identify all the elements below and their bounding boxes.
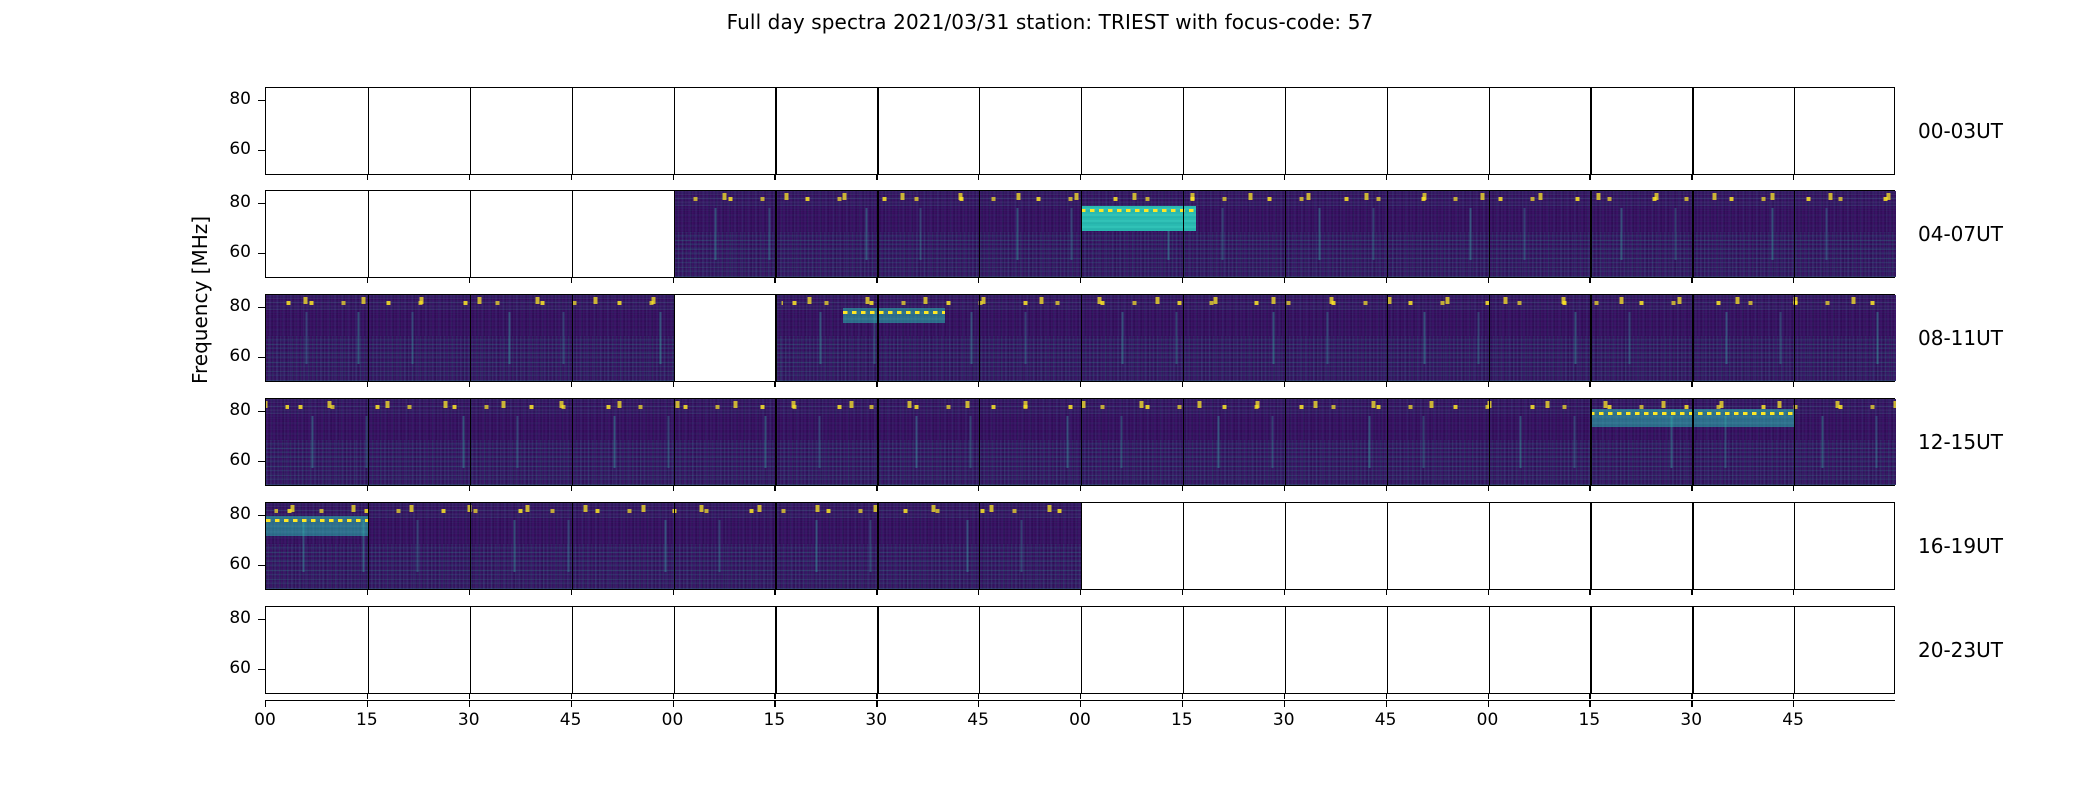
panel-divider xyxy=(1387,399,1388,485)
panel-edge-tick xyxy=(571,486,572,491)
panel-divider xyxy=(1081,295,1082,381)
panel-divider xyxy=(572,399,573,485)
panel-divider xyxy=(470,191,471,277)
x-tick-mark xyxy=(265,700,266,707)
y-tick-label: 60 xyxy=(199,346,251,366)
y-tick-mark xyxy=(258,669,265,670)
x-tick-label: 30 xyxy=(1264,710,1304,730)
panel-divider xyxy=(470,399,471,485)
panel-edge-tick xyxy=(774,590,775,595)
interference-emitter-dashes xyxy=(843,311,945,314)
panel-edge-tick xyxy=(571,590,572,595)
x-tick-mark xyxy=(1793,700,1794,707)
y-tick-mark xyxy=(258,307,265,308)
x-tick-label: 45 xyxy=(1366,710,1406,730)
panel-divider xyxy=(877,191,878,277)
panel-edge-tick xyxy=(673,382,674,387)
y-tick-label: 80 xyxy=(199,89,251,109)
panel-divider xyxy=(1489,607,1490,693)
panel-divider xyxy=(368,503,369,589)
panel-divider xyxy=(674,88,675,174)
panel-edge-tick xyxy=(1284,278,1285,283)
row-time-label: 04-07UT xyxy=(1918,222,2003,246)
panel-divider xyxy=(775,295,776,381)
x-tick-mark xyxy=(1182,700,1183,707)
panel-divider xyxy=(1183,191,1184,277)
panel-divider xyxy=(572,191,573,277)
y-tick-label: 60 xyxy=(199,242,251,262)
x-tick-label: 15 xyxy=(754,710,794,730)
panel-divider xyxy=(1590,607,1591,693)
panel-divider xyxy=(1692,191,1693,277)
panel-edge-tick xyxy=(469,486,470,491)
panel-divider xyxy=(368,607,369,693)
panel-divider xyxy=(1794,88,1795,174)
panel-divider xyxy=(368,191,369,277)
panel-edge-tick xyxy=(1080,486,1081,491)
y-tick-label: 60 xyxy=(199,658,251,678)
panel-divider xyxy=(1590,88,1591,174)
panel-edge-tick xyxy=(673,486,674,491)
panel-edge-tick xyxy=(1691,175,1692,180)
panel-edge-tick xyxy=(774,486,775,491)
spectrogram-figure: Full day spectra 2021/03/31 station: TRI… xyxy=(0,0,2100,800)
panel-edge-tick xyxy=(1793,694,1794,699)
panel-divider xyxy=(1489,399,1490,485)
panel-divider xyxy=(1387,88,1388,174)
x-tick-mark xyxy=(1488,700,1489,707)
panel-edge-tick xyxy=(1284,694,1285,699)
panel-edge-tick xyxy=(1691,694,1692,699)
x-tick-mark xyxy=(774,700,775,707)
x-tick-mark xyxy=(469,700,470,707)
panel-edge-tick xyxy=(469,382,470,387)
panel-edge-tick xyxy=(1691,486,1692,491)
x-tick-label: 30 xyxy=(856,710,896,730)
panel-edge-tick xyxy=(774,382,775,387)
panel-divider xyxy=(775,503,776,589)
x-tick-mark xyxy=(876,700,877,707)
panel-divider xyxy=(1489,191,1490,277)
panel-edge-tick xyxy=(1488,382,1489,387)
panel-divider xyxy=(1183,295,1184,381)
panel-divider xyxy=(979,88,980,174)
y-tick-label: 60 xyxy=(199,139,251,159)
panel-edge-tick xyxy=(876,590,877,595)
panel-edge-tick xyxy=(1488,590,1489,595)
y-tick-mark xyxy=(258,357,265,358)
y-tick-mark xyxy=(258,619,265,620)
panel-edge-tick xyxy=(1488,486,1489,491)
panel-edge-tick xyxy=(876,486,877,491)
panel-divider xyxy=(1285,503,1286,589)
y-tick-mark xyxy=(258,411,265,412)
y-tick-label: 60 xyxy=(199,450,251,470)
spectrogram-row[interactable] xyxy=(265,294,1895,382)
panel-divider xyxy=(979,399,980,485)
panel-edge-tick xyxy=(571,278,572,283)
panel-edge-tick xyxy=(367,278,368,283)
panel-divider xyxy=(1183,399,1184,485)
page-title: Full day spectra 2021/03/31 station: TRI… xyxy=(0,10,2100,34)
x-tick-label: 45 xyxy=(958,710,998,730)
panel-edge-tick xyxy=(673,694,674,699)
panel-edge-tick xyxy=(367,382,368,387)
x-tick-label: 15 xyxy=(1569,710,1609,730)
panel-divider xyxy=(1183,88,1184,174)
panel-divider xyxy=(775,88,776,174)
panel-edge-tick xyxy=(978,486,979,491)
panel-divider xyxy=(1794,295,1795,381)
panel-edge-tick xyxy=(1589,382,1590,387)
x-tick-label: 30 xyxy=(449,710,489,730)
y-tick-label: 80 xyxy=(199,400,251,420)
texture-layer xyxy=(775,297,1896,304)
panel-divider xyxy=(1081,88,1082,174)
panel-edge-tick xyxy=(1386,382,1387,387)
row-time-label: 12-15UT xyxy=(1918,430,2003,454)
panel-edge-tick xyxy=(1793,175,1794,180)
panel-divider xyxy=(572,607,573,693)
panel-edge-tick xyxy=(1182,278,1183,283)
panel-edge-tick xyxy=(978,590,979,595)
panel-edge-tick xyxy=(1182,486,1183,491)
panel-divider xyxy=(1183,503,1184,589)
panel-edge-tick xyxy=(469,694,470,699)
panel-edge-tick xyxy=(1488,278,1489,283)
panel-divider xyxy=(775,191,776,277)
panel-divider xyxy=(877,88,878,174)
panel-divider xyxy=(979,503,980,589)
x-tick-label: 45 xyxy=(551,710,591,730)
panel-divider xyxy=(979,295,980,381)
panel-edge-tick xyxy=(1080,694,1081,699)
panel-divider xyxy=(572,503,573,589)
spectrogram-row[interactable] xyxy=(265,606,1895,694)
row-time-label: 16-19UT xyxy=(1918,534,2003,558)
x-tick-label: 15 xyxy=(1162,710,1202,730)
panel-edge-tick xyxy=(1589,278,1590,283)
y-tick-label: 60 xyxy=(199,554,251,574)
panel-divider xyxy=(674,295,675,381)
panel-edge-tick xyxy=(673,175,674,180)
panel-edge-tick xyxy=(673,590,674,595)
x-tick-label: 45 xyxy=(1773,710,1813,730)
row-time-label: 00-03UT xyxy=(1918,119,2003,143)
y-tick-mark xyxy=(258,100,265,101)
panel-edge-tick xyxy=(1080,590,1081,595)
panel-divider xyxy=(470,295,471,381)
panel-divider xyxy=(877,607,878,693)
x-tick-label: 00 xyxy=(1060,710,1100,730)
panel-divider xyxy=(674,607,675,693)
panel-edge-tick xyxy=(1386,694,1387,699)
panel-edge-tick xyxy=(367,590,368,595)
panel-edge-tick xyxy=(774,278,775,283)
panel-edge-tick xyxy=(1691,278,1692,283)
panel-divider xyxy=(979,191,980,277)
panel-edge-tick xyxy=(876,382,877,387)
panel-edge-tick xyxy=(978,694,979,699)
x-tick-label: 15 xyxy=(347,710,387,730)
panel-divider xyxy=(1387,503,1388,589)
panel-edge-tick xyxy=(673,278,674,283)
y-tick-mark xyxy=(258,565,265,566)
panel-divider xyxy=(775,399,776,485)
panel-divider xyxy=(1183,607,1184,693)
panel-divider xyxy=(470,503,471,589)
x-tick-mark xyxy=(1589,700,1590,707)
panel-divider xyxy=(1794,399,1795,485)
panel-edge-tick xyxy=(1589,694,1590,699)
panel-edge-tick xyxy=(1589,590,1590,595)
x-tick-mark xyxy=(673,700,674,707)
panel-edge-tick xyxy=(1182,175,1183,180)
y-tick-label: 80 xyxy=(199,192,251,212)
panel-edge-tick xyxy=(774,175,775,180)
x-tick-label: 30 xyxy=(1671,710,1711,730)
panel-divider xyxy=(1489,88,1490,174)
panel-divider xyxy=(1081,607,1082,693)
panel-divider xyxy=(979,607,980,693)
panel-edge-tick xyxy=(876,694,877,699)
panel-edge-tick xyxy=(1080,175,1081,180)
panel-divider xyxy=(1081,191,1082,277)
panel-divider xyxy=(1692,399,1693,485)
panel-divider xyxy=(1387,295,1388,381)
panel-divider xyxy=(1590,191,1591,277)
panel-divider xyxy=(775,607,776,693)
panel-divider xyxy=(674,191,675,277)
x-tick-mark xyxy=(367,700,368,707)
panel-edge-tick xyxy=(1284,486,1285,491)
panel-divider xyxy=(368,88,369,174)
x-tick-mark xyxy=(978,700,979,707)
panel-edge-tick xyxy=(1589,486,1590,491)
panel-divider xyxy=(1285,295,1286,381)
panel-edge-tick xyxy=(1793,278,1794,283)
y-tick-mark xyxy=(258,461,265,462)
panel-divider xyxy=(1692,88,1693,174)
x-tick-mark xyxy=(1691,700,1692,707)
y-tick-label: 80 xyxy=(199,608,251,628)
panel-edge-tick xyxy=(367,486,368,491)
panel-edge-tick xyxy=(1793,382,1794,387)
panel-divider xyxy=(1590,503,1591,589)
y-tick-mark xyxy=(258,203,265,204)
x-tick-mark xyxy=(1080,700,1081,707)
panel-divider xyxy=(1387,607,1388,693)
panel-edge-tick xyxy=(1182,382,1183,387)
panel-divider xyxy=(572,88,573,174)
panel-divider xyxy=(1489,503,1490,589)
panel-edge-tick xyxy=(978,278,979,283)
panel-edge-tick xyxy=(774,694,775,699)
panel-divider xyxy=(1590,295,1591,381)
x-tick-mark xyxy=(571,700,572,707)
panel-edge-tick xyxy=(1080,278,1081,283)
panel-edge-tick xyxy=(1182,590,1183,595)
x-tick-label: 00 xyxy=(1468,710,1508,730)
panel-divider xyxy=(877,503,878,589)
x-tick-label: 00 xyxy=(653,710,693,730)
panel-divider xyxy=(572,295,573,381)
panel-divider xyxy=(877,295,878,381)
panel-edge-tick xyxy=(1386,278,1387,283)
panel-divider xyxy=(470,607,471,693)
x-tick-mark xyxy=(1284,700,1285,707)
panel-divider xyxy=(368,295,369,381)
panel-edge-tick xyxy=(1691,382,1692,387)
panel-edge-tick xyxy=(1284,175,1285,180)
panel-edge-tick xyxy=(1793,486,1794,491)
panel-edge-tick xyxy=(1793,590,1794,595)
panel-divider xyxy=(674,399,675,485)
panel-edge-tick xyxy=(1284,590,1285,595)
panel-edge-tick xyxy=(367,175,368,180)
panel-divider xyxy=(1794,503,1795,589)
row-time-label: 08-11UT xyxy=(1918,326,2003,350)
panel-edge-tick xyxy=(1488,694,1489,699)
panel-divider xyxy=(1489,295,1490,381)
panel-edge-tick xyxy=(1386,486,1387,491)
panel-divider xyxy=(1285,399,1286,485)
y-tick-mark xyxy=(258,253,265,254)
panel-edge-tick xyxy=(367,694,368,699)
interference-emitter-dashes xyxy=(266,519,368,522)
panel-edge-tick xyxy=(1488,175,1489,180)
panel-divider xyxy=(1794,607,1795,693)
panel-edge-tick xyxy=(978,382,979,387)
panel-divider xyxy=(1285,88,1286,174)
panel-edge-tick xyxy=(571,694,572,699)
panel-edge-tick xyxy=(1386,175,1387,180)
spectrogram-row[interactable] xyxy=(265,190,1895,278)
panel-divider xyxy=(1692,607,1693,693)
panel-divider xyxy=(1692,503,1693,589)
panel-divider xyxy=(1285,191,1286,277)
panel-edge-tick xyxy=(1182,694,1183,699)
y-tick-label: 80 xyxy=(199,504,251,524)
panel-divider xyxy=(674,503,675,589)
panel-edge-tick xyxy=(571,175,572,180)
panel-edge-tick xyxy=(876,278,877,283)
spectrogram-row[interactable] xyxy=(265,502,1895,590)
panel-divider xyxy=(1387,191,1388,277)
panel-divider xyxy=(1590,399,1591,485)
interference-emitter-dashes xyxy=(1081,209,1196,212)
panel-edge-tick xyxy=(1386,590,1387,595)
panel-divider xyxy=(1081,399,1082,485)
y-tick-mark xyxy=(258,150,265,151)
panel-edge-tick xyxy=(876,175,877,180)
row-time-label: 20-23UT xyxy=(1918,638,2003,662)
panel-divider xyxy=(1794,191,1795,277)
panel-divider xyxy=(1285,607,1286,693)
spectrogram-row[interactable] xyxy=(265,87,1895,175)
panel-edge-tick xyxy=(1284,382,1285,387)
panel-divider xyxy=(368,399,369,485)
panel-edge-tick xyxy=(571,382,572,387)
y-tick-label: 80 xyxy=(199,296,251,316)
panel-edge-tick xyxy=(978,175,979,180)
panel-divider xyxy=(470,88,471,174)
panel-divider xyxy=(1081,503,1082,589)
panel-edge-tick xyxy=(469,175,470,180)
panel-divider xyxy=(1692,295,1693,381)
x-tick-label: 00 xyxy=(245,710,285,730)
panel-edge-tick xyxy=(469,278,470,283)
panel-edge-tick xyxy=(469,590,470,595)
panel-edge-tick xyxy=(1589,175,1590,180)
y-tick-mark xyxy=(258,515,265,516)
panel-edge-tick xyxy=(1080,382,1081,387)
panel-edge-tick xyxy=(1691,590,1692,595)
spectrogram-row[interactable] xyxy=(265,398,1895,486)
x-tick-mark xyxy=(1386,700,1387,707)
panel-divider xyxy=(877,399,878,485)
